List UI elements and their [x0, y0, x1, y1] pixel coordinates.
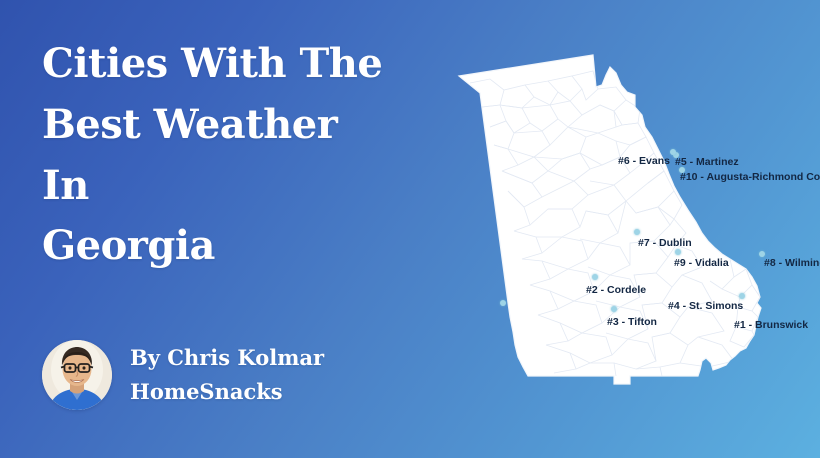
city-marker-cordele[interactable] — [592, 274, 598, 280]
city-label-dublin[interactable]: #7 - Dublin — [638, 238, 692, 249]
headline-line-3: In — [42, 156, 432, 217]
city-label-evans[interactable]: #6 - Evans — [618, 156, 670, 167]
headline-line-2: Best Weather — [42, 95, 432, 156]
byline: By Chris Kolmar HomeSnacks — [42, 340, 324, 410]
byline-author: By Chris Kolmar — [130, 341, 324, 375]
city-marker-brunswick[interactable] — [500, 300, 506, 306]
city-label-martinez[interactable]: #5 - Martinez — [675, 157, 739, 168]
byline-brand: HomeSnacks — [130, 375, 324, 409]
city-label-vidalia[interactable]: #9 - Vidalia — [674, 258, 729, 269]
avatar — [42, 340, 112, 410]
headline-line-1: Cities With The — [42, 34, 432, 95]
city-marker-tifton[interactable] — [611, 306, 617, 312]
headline-line-4: Georgia — [42, 216, 432, 277]
georgia-state-shape — [430, 45, 820, 420]
georgia-map: #6 - Evans #5 - Martinez #10 - Augusta-R… — [430, 45, 820, 420]
weather-poster: Cities With The Best Weather In Georgia — [0, 0, 820, 458]
city-label-brunswick[interactable]: #1 - Brunswick — [734, 320, 808, 331]
city-marker-st-simons[interactable] — [739, 293, 745, 299]
city-label-cordele[interactable]: #2 - Cordele — [586, 285, 646, 296]
city-marker-dublin[interactable] — [634, 229, 640, 235]
city-label-augusta[interactable]: #10 - Augusta-Richmond Cour — [680, 172, 820, 183]
city-label-wilmington[interactable]: #8 - Wilming — [764, 258, 820, 269]
state-outline — [459, 55, 761, 384]
city-marker-vidalia[interactable] — [675, 249, 681, 255]
page-title: Cities With The Best Weather In Georgia — [42, 34, 432, 277]
avatar-photo — [42, 340, 112, 410]
city-label-tifton[interactable]: #3 - Tifton — [607, 317, 657, 328]
city-label-st-simons[interactable]: #4 - St. Simons — [668, 301, 743, 312]
byline-text: By Chris Kolmar HomeSnacks — [130, 341, 324, 409]
city-marker-evans[interactable] — [670, 149, 676, 155]
